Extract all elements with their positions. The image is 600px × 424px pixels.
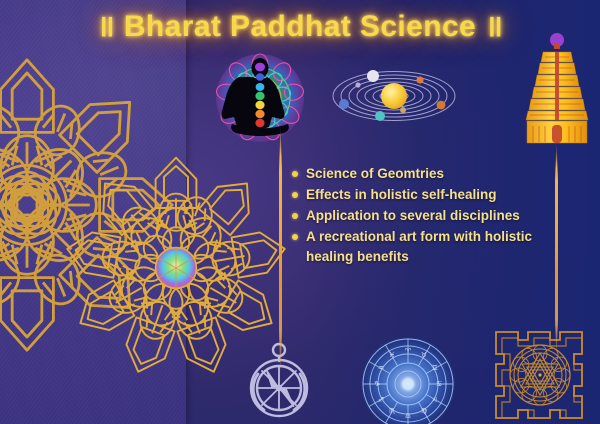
list-item: A recreational art form with holistic he…: [292, 227, 554, 265]
list-item: Application to several disciplines: [292, 206, 554, 225]
bullet-dot-icon: [292, 234, 298, 240]
svg-text:♉: ♉: [421, 351, 427, 359]
chakra-meditation-figure-icon: [205, 44, 315, 156]
list-item-label: Application to several disciplines: [306, 206, 520, 225]
title-area: ॥ Bharat Paddhat Science ॥: [0, 2, 600, 46]
list-item: Science of Geomtries: [292, 164, 554, 183]
temple-gopuram-icon: [521, 30, 593, 146]
zodiac-wheel-icon: ♈♉♊ ♋♌♍ ♎♏♐ ♑♒♓: [358, 334, 458, 424]
list-item-label: A recreational art form with holistic he…: [306, 227, 554, 265]
bullet-dot-icon: [292, 213, 298, 219]
svg-text:♋: ♋: [436, 380, 442, 388]
svg-text:♓: ♓: [389, 351, 395, 359]
svg-text:♏: ♏: [389, 407, 396, 415]
list-item: Effects in holistic self-healing: [292, 185, 554, 204]
bullet-dot-icon: [292, 192, 298, 198]
feature-bullet-list: Science of Geomtries Effects in holistic…: [292, 164, 554, 268]
svg-text:♍: ♍: [421, 407, 428, 415]
svg-text:♊: ♊: [432, 364, 438, 372]
list-item-label: Science of Geomtries: [306, 164, 444, 183]
svg-text:♈: ♈: [405, 347, 412, 355]
vastu-compass-icon: [236, 338, 322, 424]
svg-text:♎: ♎: [405, 412, 411, 420]
page-title: ॥ Bharat Paddhat Science ॥: [97, 4, 503, 45]
svg-text:♐: ♐: [378, 396, 384, 404]
svg-text:♒: ♒: [378, 364, 384, 372]
sri-yantra-icon: [484, 326, 596, 424]
svg-text:♌: ♌: [432, 396, 438, 404]
list-item-label: Effects in holistic self-healing: [306, 185, 497, 204]
svg-text:♑: ♑: [374, 380, 380, 388]
solar-system-icon: [326, 50, 456, 138]
poster-canvas: ♈♉♊ ♋♌♍ ♎♏♐ ♑♒♓: [0, 0, 600, 424]
bullet-dot-icon: [292, 171, 298, 177]
